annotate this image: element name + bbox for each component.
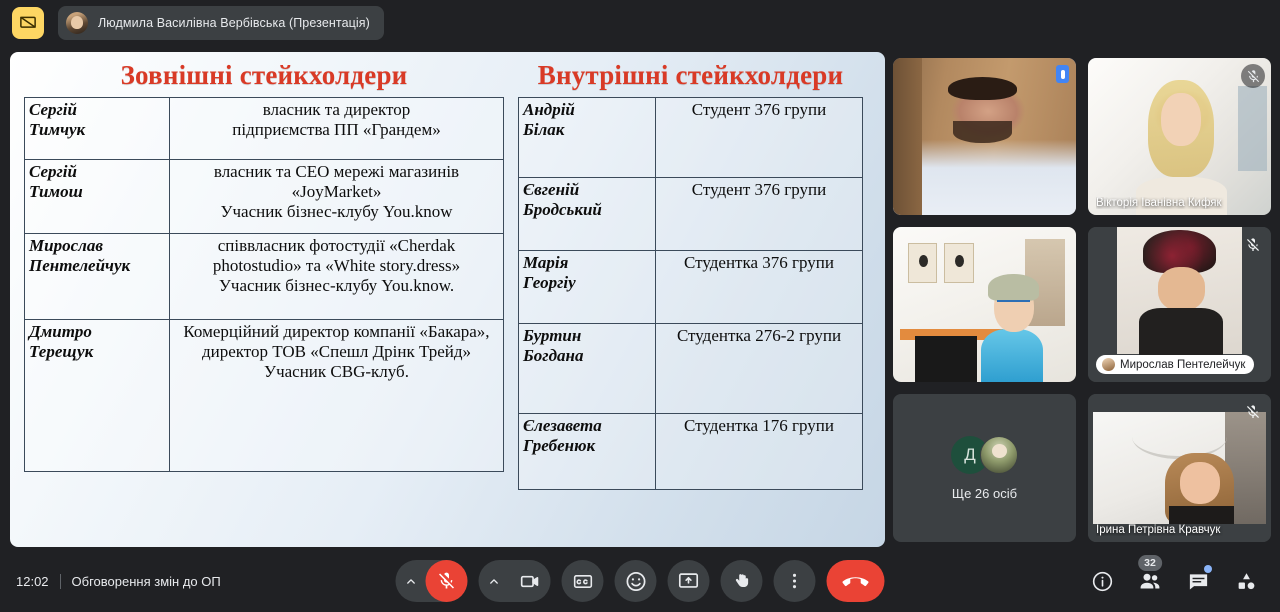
video-feed (893, 58, 1076, 215)
meeting-name: Обговорення змін до ОП (72, 574, 221, 589)
meeting-details-button[interactable] (1082, 561, 1122, 601)
stakeholder-name: Сергій Тимчук (25, 98, 170, 160)
video-tile-participant-3[interactable] (893, 227, 1076, 382)
video-feed (893, 227, 1076, 382)
presentation-slide: Зовнішні стейкхолдери Сергій Тимчук влас… (10, 52, 885, 547)
mic-off-icon (1241, 64, 1265, 88)
table-row: Марія Георгіу Студентка 376 групи (519, 251, 863, 324)
table-row: Андрій Білак Студент 376 групи (519, 98, 863, 178)
internal-stakeholders-table: Андрій Білак Студент 376 групи Євгеній Б… (518, 97, 863, 490)
screen-share-off-icon[interactable] (12, 7, 44, 39)
participants-button[interactable]: 32 (1130, 561, 1170, 601)
speaking-indicator-icon (1056, 65, 1069, 83)
table-row: Євгеній Бродський Студент 376 групи (519, 178, 863, 251)
activities-button[interactable] (1226, 561, 1266, 601)
camera-button[interactable] (509, 560, 551, 602)
shared-screen-area[interactable]: Зовнішні стейкхолдери Сергій Тимчук влас… (10, 52, 885, 547)
participant-name: Ірина Петрівна Кравчук (1096, 524, 1263, 536)
google-meet-window: Людмила Василівна Вербівська (Презентаці… (0, 0, 1280, 612)
captions-button[interactable] (562, 560, 604, 602)
microphone-off-button[interactable] (426, 560, 468, 602)
stakeholder-role: Студентка 276-2 групи (656, 324, 863, 414)
microphone-control[interactable] (396, 560, 468, 602)
avatar (1102, 358, 1115, 371)
participant-name: Вікторія Іванівна Кифяк (1096, 197, 1263, 209)
reactions-button[interactable] (615, 560, 657, 602)
stakeholder-name: Єлезавета Гребенюк (519, 414, 656, 490)
stakeholder-role: Студентка 176 групи (656, 414, 863, 490)
more-options-button[interactable] (774, 560, 816, 602)
stakeholder-name: Мирослав Пентелейчук (25, 234, 170, 320)
stakeholder-name: Сергій Тимош (25, 160, 170, 234)
participant-video-grid: Вікторія Іванівна Кифяк (893, 58, 1271, 538)
overflow-avatars: Д (951, 436, 1018, 474)
video-tile-active-speaker[interactable] (893, 58, 1076, 215)
presenter-chip[interactable]: Людмила Василівна Вербівська (Презентаці… (58, 6, 384, 40)
avatar (66, 12, 88, 34)
table-row: Мирослав Пентелейчук співвласник фотосту… (25, 234, 504, 320)
internal-stakeholders-column: Внутрішні стейкхолдери Андрій Білак Студ… (518, 60, 863, 537)
video-tile-overflow-participants[interactable]: Д Ще 26 осіб (893, 394, 1076, 542)
table-row: Дмитро Терещук Комерційний директор комп… (25, 320, 504, 472)
bottom-bar: 12:02 Обговорення змін до ОП (0, 550, 1280, 612)
meeting-meta: 12:02 Обговорення змін до ОП (16, 574, 221, 589)
chat-button[interactable] (1178, 561, 1218, 601)
video-tile-myroslav[interactable]: Мирослав Пентелейчук (1088, 227, 1271, 382)
presenter-name: Людмила Василівна Вербівська (Презентаці… (98, 16, 370, 30)
table-row: Сергій Тимош власник та СЕО мережі магаз… (25, 160, 504, 234)
stakeholder-role: Комерційний директор компанії «Бакара», … (170, 320, 504, 472)
table-row: Сергій Тимчук власник та директор підпри… (25, 98, 504, 160)
stakeholder-role: власник та директор підприємства ПП «Гра… (170, 98, 504, 160)
chevron-up-icon[interactable] (396, 560, 426, 602)
top-bar: Людмила Василівна Вербівська (Презентаці… (0, 0, 1280, 46)
table-row: Єлезавета Гребенюк Студентка 176 групи (519, 414, 863, 490)
call-controls (396, 560, 885, 602)
divider (60, 574, 61, 589)
mic-off-icon (1241, 400, 1265, 424)
stakeholder-name: Марія Георгіу (519, 251, 656, 324)
external-stakeholders-column: Зовнішні стейкхолдери Сергій Тимчук влас… (24, 60, 504, 537)
unread-indicator-dot (1204, 565, 1212, 573)
raise-hand-button[interactable] (721, 560, 763, 602)
stakeholder-name: Буртин Богдана (519, 324, 656, 414)
chevron-up-icon[interactable] (479, 560, 509, 602)
avatar (980, 436, 1018, 474)
stakeholder-name: Дмитро Терещук (25, 320, 170, 472)
external-stakeholders-table: Сергій Тимчук власник та директор підпри… (24, 97, 504, 472)
video-tile-iryna[interactable]: Ірина Петрівна Кравчук (1088, 394, 1271, 542)
external-stakeholders-title: Зовнішні стейкхолдери (24, 60, 504, 91)
stakeholder-role: Студентка 376 групи (656, 251, 863, 324)
participants-count-badge: 32 (1138, 555, 1162, 571)
stakeholder-name: Андрій Білак (519, 98, 656, 178)
stakeholder-role: власник та СЕО мережі магазинів «JoyMark… (170, 160, 504, 234)
right-controls: 32 (1082, 561, 1266, 601)
participant-name: Мирослав Пентелейчук (1120, 359, 1245, 371)
table-row: Буртин Богдана Студентка 276-2 групи (519, 324, 863, 414)
camera-control[interactable] (479, 560, 551, 602)
overflow-count-label: Ще 26 осіб (952, 486, 1017, 501)
participant-name-pill: Мирослав Пентелейчук (1096, 355, 1254, 374)
video-tile-viktoriia[interactable]: Вікторія Іванівна Кифяк (1088, 58, 1271, 215)
stakeholder-name: Євгеній Бродський (519, 178, 656, 251)
internal-stakeholders-title: Внутрішні стейкхолдери (518, 60, 863, 91)
leave-call-button[interactable] (827, 560, 885, 602)
present-now-button[interactable] (668, 560, 710, 602)
stakeholder-role: співвласник фотостудії «Cherdak photostu… (170, 234, 504, 320)
mic-off-icon (1241, 233, 1265, 257)
stakeholder-role: Студент 376 групи (656, 98, 863, 178)
current-time: 12:02 (16, 574, 49, 589)
stakeholder-role: Студент 376 групи (656, 178, 863, 251)
